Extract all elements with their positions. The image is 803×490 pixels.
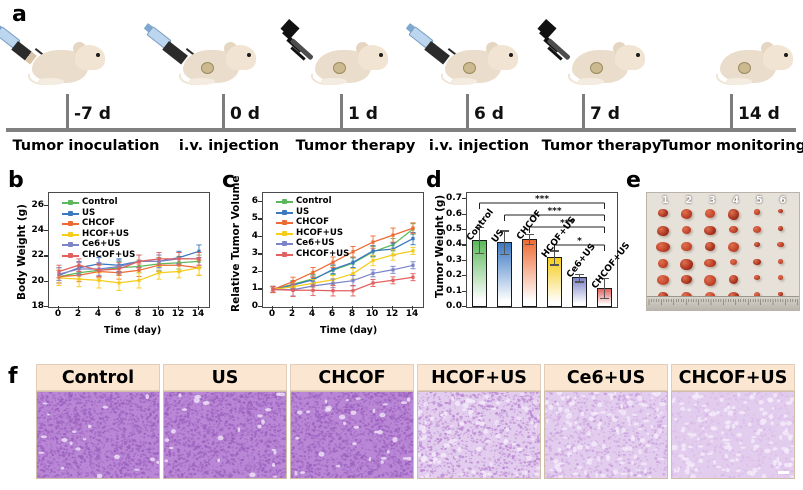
tumor-specimen [778,209,783,213]
tumor-specimen [729,226,738,234]
x-tick-label: 14 [402,309,422,319]
x-tick-mark [392,306,393,310]
y-tick-mark [44,306,48,307]
bar-label-hcof-us: HCOF+US [540,215,578,260]
histology-panel-chcof: CHCOF [290,364,414,480]
y-tick-mark [462,229,466,230]
panel-letter-f: f [8,366,18,388]
y-tick-mark [258,306,262,307]
tumor-specimen [704,275,716,286]
tumor-specimen [704,259,716,268]
tumor-specimen [657,226,668,236]
legend-marker [68,200,73,205]
x-tick-mark [272,306,273,310]
y-tick-mark [462,291,466,292]
tumor-specimen [754,242,760,247]
mouse-icon [441,34,519,86]
tumor-specimen [682,226,692,235]
tumor-specimen [705,242,714,251]
tumor-column-number: 6 [780,195,787,206]
panel-a-treatment-timeline: a [0,0,803,170]
legend-marker [68,221,73,226]
x-tick-mark [292,306,293,310]
timeline-stage-4: Tumor therapy [533,138,670,154]
tumor-specimen [728,242,739,252]
legend-marker [282,252,287,257]
tumor-column-number: 3 [709,195,716,206]
panel-c-x-axis-title: Time (day) [320,325,377,336]
timeline-tick-0 [66,94,69,130]
tumor-specimen [729,275,739,284]
tumor-specimen [658,209,667,217]
legend-label: US [82,208,95,218]
x-tick-label: 2 [68,309,88,319]
histology-image [163,391,287,479]
timeline-day-3: 6 d [474,104,504,124]
histology-panel-hcof-us: HCOF+US [417,364,541,480]
legend-marker [68,232,73,237]
y-tick-label: 2 [236,266,258,276]
legend-marker [68,253,73,258]
tumor-specimen [728,209,738,220]
y-tick-label: 3 [236,248,258,258]
y-tick-label: 0.5 [438,224,462,234]
timeline-tick-5 [730,94,733,130]
histology-panel-chcof-us: CHCOF+US [671,364,795,480]
tumor-specimen [681,209,693,219]
tumor-specimen [778,226,783,231]
timeline-icon-cell-5 [688,22,798,92]
x-tick-mark [138,306,139,310]
panel-letter-b: b [8,170,24,192]
x-tick-mark [118,306,119,310]
timeline-icon-cell-3 [413,22,523,92]
y-tick-label: 0.7 [438,193,462,203]
histology-panel-control: Control [36,364,160,480]
mouse-icon [179,34,257,86]
legend-marker [68,242,73,247]
x-tick-mark [312,306,313,310]
legend-label: Control [82,197,118,207]
histology-image [544,391,668,479]
x-tick-mark [332,306,333,310]
timeline-icon-cell-1 [151,22,261,92]
panel-e-excised-tumors-photo: e 123456 [624,170,803,350]
timeline-stage-0: Tumor inoculation [6,138,166,154]
tumor-specimen [730,259,738,266]
tumor-specimen [753,226,762,233]
histology-label: US [163,364,287,391]
timeline-day-0: -7 d [74,104,111,124]
legend-label: CHCOF [82,218,115,228]
tumor-specimen [754,275,760,280]
y-tick-label: 5 [236,213,258,223]
panel-f-histology-images: f ControlUSCHCOFHCOF+USCe6+USCHCOF+US [0,352,803,490]
y-tick-mark [258,218,262,219]
legend-label: CHCOF+US [296,249,349,259]
x-tick-label: 6 [108,309,128,319]
tumor-specimen [681,242,691,251]
timeline-stage-1: i.v. injection [164,138,294,154]
x-tick-label: 10 [362,309,382,319]
bar-label-chcof: CHCOF [515,208,544,241]
timeline-axis [6,128,796,132]
y-tick-label: 4 [236,231,258,241]
y-tick-label: 6 [236,196,258,206]
x-tick-mark [78,306,79,310]
legend-label: US [296,207,309,217]
x-tick-label: 4 [302,309,322,319]
legend-marker [68,211,73,216]
tumor-specimen [778,259,784,264]
x-tick-label: 2 [282,309,302,319]
x-tick-mark [198,306,199,310]
y-tick-mark [44,230,48,231]
panel-b-body-weight-chart: b Body Weight (g) Time (day) ControlUSCH… [0,170,215,350]
tumor-specimen [657,275,669,285]
y-tick-label: 18 [22,301,44,311]
tumor-specimen [777,242,783,247]
tumor-specimen [656,242,670,252]
timeline-icon-cell-0 [0,22,110,92]
x-tick-mark [412,306,413,310]
x-tick-label: 14 [188,309,208,319]
timeline-tick-4 [582,94,585,130]
x-tick-label: 4 [88,309,108,319]
tumor-specimen [754,209,761,215]
timeline-icon-cell-2 [283,22,393,92]
timeline-stage-2: Tumor therapy [287,138,424,154]
y-tick-mark [462,198,466,199]
timeline-day-2: 1 d [348,104,378,124]
y-tick-label: 0.2 [438,270,462,280]
y-tick-label: 0.1 [438,286,462,296]
bar-label-us: US [490,228,506,245]
mouse-icon [311,34,389,86]
timeline-icon-cell-4 [540,22,650,92]
x-tick-label: 0 [48,309,68,319]
tumor-column-number: 2 [686,195,693,206]
tumor-specimen [658,259,668,268]
y-tick-label: 22 [22,250,44,260]
y-tick-label: 20 [22,276,44,286]
legend-label: HCOF+US [296,228,343,238]
mouse-icon [716,34,794,86]
timeline-stage-5: Tumor monitoring [660,138,803,154]
tumor-photo: 123456 [646,192,800,311]
histology-image [290,391,414,479]
panel-letter-d: d [426,170,442,192]
x-tick-label: 6 [322,309,342,319]
panel-b-x-axis-title: Time (day) [104,325,161,336]
x-tick-mark [372,306,373,310]
histology-label: Control [36,364,160,391]
x-tick-mark [178,306,179,310]
x-tick-mark [58,306,59,310]
x-tick-label: 10 [148,309,168,319]
y-tick-mark [258,236,262,237]
y-tick-mark [462,306,466,307]
tumor-column-number: 1 [662,195,669,206]
x-tick-label: 12 [168,309,188,319]
panel-d-tumor-weight-chart: d Tumor Weight (g) ********** ControlUSC… [424,170,624,350]
histology-image [671,391,795,479]
y-tick-mark [44,281,48,282]
tumor-column-number: 4 [733,195,740,206]
tumor-specimen [705,209,716,218]
mouse-icon [28,34,106,86]
timeline-tick-1 [222,94,225,130]
tumor-column-number: 5 [756,195,763,206]
legend-label: Control [296,196,332,206]
tumor-specimen [753,259,760,266]
timeline-tick-2 [340,94,343,130]
legend-marker [282,199,287,204]
histology-panel-us: US [163,364,287,480]
panel-c-relative-tumor-volume-chart: c Relative Tumor Volume Time (day) Contr… [212,170,427,350]
histology-label: HCOF+US [417,364,541,391]
legend-label: CHCOF [296,217,329,227]
y-tick-mark [258,288,262,289]
y-tick-mark [258,271,262,272]
timeline-day-1: 0 d [230,104,260,124]
ruler-icon [647,296,799,310]
legend-marker [282,220,287,225]
scale-bar [778,471,789,474]
legend-marker [282,210,287,215]
timeline-day-4: 7 d [590,104,620,124]
y-tick-label: 1 [236,283,258,293]
histology-image [36,391,160,479]
bar-label-ce6-us: Ce6+US [565,242,598,280]
legend-marker [282,241,287,246]
y-tick-mark [462,260,466,261]
legend-label: Ce6+US [296,238,334,248]
histology-label: CHCOF [290,364,414,391]
x-tick-label: 12 [382,309,402,319]
y-tick-label: 0.6 [438,209,462,219]
legend-label: Ce6+US [82,239,120,249]
tumor-specimen [704,226,715,235]
y-tick-label: 26 [22,200,44,210]
y-tick-label: 0.3 [438,255,462,265]
legend-marker [282,231,287,236]
legend-label: CHCOF+US [82,250,135,260]
x-tick-label: 8 [342,309,362,319]
x-tick-label: 8 [128,309,148,319]
timeline-stage-3: i.v. injection [415,138,543,154]
tumor-specimen [778,275,784,280]
mouse-icon [568,34,646,86]
histology-panel-ce6-us: Ce6+US [544,364,668,480]
y-tick-label: 0 [236,301,258,311]
histology-image [417,391,541,479]
y-tick-mark [44,205,48,206]
timeline-day-5: 14 d [738,104,780,124]
y-tick-label: 24 [22,225,44,235]
y-tick-mark [462,214,466,215]
tumor-specimen [681,275,692,284]
x-tick-label: 0 [262,309,282,319]
y-tick-mark [462,275,466,276]
y-tick-mark [462,244,466,245]
legend-label: HCOF+US [82,229,129,239]
x-tick-mark [352,306,353,310]
tumor-specimen [680,259,692,271]
histology-label: CHCOF+US [671,364,795,391]
y-tick-mark [258,201,262,202]
x-tick-mark [158,306,159,310]
panel-d-plot-area: ********** ControlUSCHCOFHCOF+USCe6+USCH… [466,192,618,308]
y-tick-label: 0.4 [438,239,462,249]
histology-label: Ce6+US [544,364,668,391]
timeline-tick-3 [466,94,469,130]
y-tick-mark [258,253,262,254]
panel-letter-e: e [626,170,641,192]
x-tick-mark [98,306,99,310]
y-tick-mark [44,255,48,256]
y-tick-label: 0.0 [438,301,462,311]
